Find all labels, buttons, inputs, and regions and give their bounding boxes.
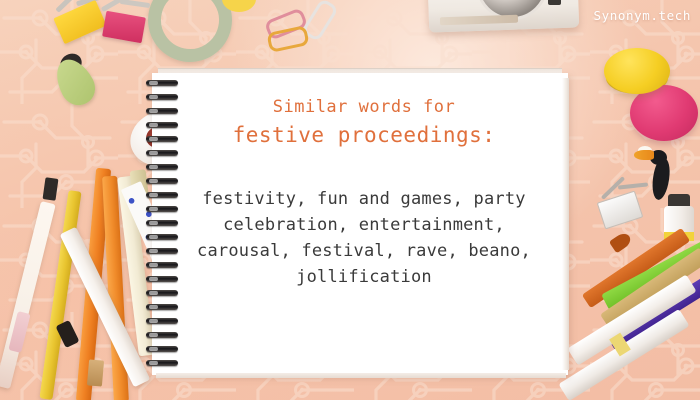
camera-button-icon [548, 0, 561, 5]
spiral-ring [146, 80, 178, 86]
screenshot-root: Similar words for festive proceedings: f… [0, 0, 700, 400]
spiral-ring [146, 276, 178, 282]
spiral-ring [146, 206, 178, 212]
spiral-ring [146, 346, 178, 352]
spiral-ring [146, 234, 178, 240]
synonym-line: celebration, entertainment, [186, 212, 542, 238]
notebook-page-stack-right [562, 78, 569, 370]
synonym-list: festivity, fun and games, party celebrat… [186, 186, 542, 290]
site-watermark: Synonym.tech [593, 8, 691, 23]
synonym-line: carousal, festival, rave, beano, [186, 238, 542, 264]
notebook-page-stack-bottom [156, 373, 566, 378]
spiral-ring [146, 262, 178, 268]
spiral-ring [146, 122, 178, 128]
spiral-ring [146, 290, 178, 296]
spiral-ring [146, 220, 178, 226]
orange-pencil-eraser [87, 359, 104, 386]
spiral-binding [146, 78, 180, 374]
synonym-line: festivity, fun and games, party [186, 186, 542, 212]
spiral-ring [146, 150, 178, 156]
spiral-ring [146, 304, 178, 310]
spiral-ring [146, 164, 178, 170]
toucan-figurine-beak [634, 150, 654, 160]
spiral-ring [146, 248, 178, 254]
spiral-ring [146, 360, 178, 366]
spiral-ring [146, 192, 178, 198]
spiral-ring [146, 332, 178, 338]
spiral-ring [146, 178, 178, 184]
spiral-ring [146, 94, 178, 100]
spiral-ring [146, 136, 178, 142]
spiral-ring [146, 318, 178, 324]
spiral-ring [146, 108, 178, 114]
notebook-content: Similar words for festive proceedings: f… [186, 96, 542, 290]
synonym-line: jollification [186, 264, 542, 290]
synonym-heading-prefix: Similar words for [186, 96, 542, 118]
yellow-macaron [604, 48, 670, 94]
synonym-query-term: festive proceedings: [186, 120, 542, 150]
